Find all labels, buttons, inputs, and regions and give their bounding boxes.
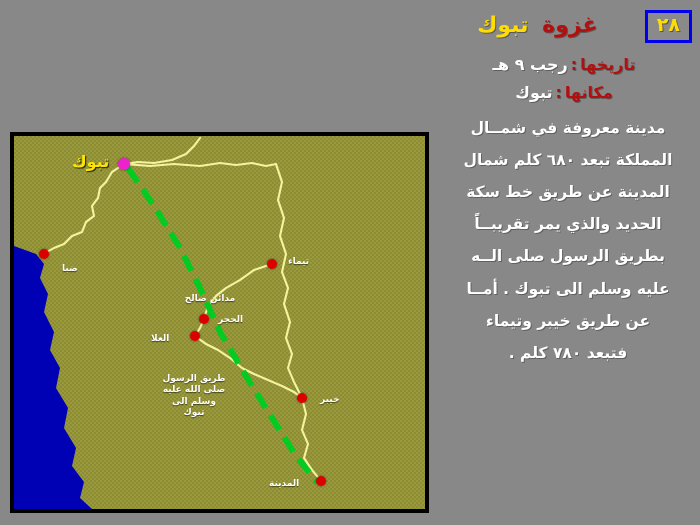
- page-root: تبوكضباتيماءالحجرالعلاخيبرالمدينة مدائن …: [0, 0, 700, 525]
- map-canvas[interactable]: تبوكضباتيماءالحجرالعلاخيبرالمدينة مدائن …: [14, 136, 425, 509]
- description-line: المملكة تبعد ٦٨٠ كلم شمال: [444, 148, 692, 173]
- map-frame: تبوكضباتيماءالحجرالعلاخيبرالمدينة مدائن …: [10, 132, 429, 513]
- title-word-tabuk: تبوك: [477, 13, 528, 38]
- map-capital-dot[interactable]: [118, 158, 130, 170]
- description-line: بطريق الرسول صلى الــه: [444, 244, 692, 269]
- date-row: تاريخها:رجب ٩ هـ: [442, 55, 686, 74]
- description-line: مدينة معروفة في شمــال: [444, 116, 692, 141]
- description-text: مدينة معروفة في شمــالالمملكة تبعد ٦٨٠ ك…: [444, 116, 692, 366]
- description-line: فتبعد ٧٨٠ كلم .: [444, 341, 692, 366]
- date-separator: :: [568, 55, 580, 74]
- map-city-dot[interactable]: [297, 393, 307, 403]
- place-value: تبوك: [515, 83, 552, 102]
- place-label: مكانها: [565, 83, 613, 102]
- map-city-dot[interactable]: [267, 259, 277, 269]
- description-line: المدينة عن طريق خط سكة: [444, 180, 692, 205]
- title-row: ٢٨ غزوة تبوك: [436, 6, 700, 46]
- description-line: عن طريق خيبر وتيماء: [444, 309, 692, 334]
- sea-polygon: [14, 246, 92, 509]
- description-line: عليه وسلم الى تبوك . أمــا: [444, 277, 692, 302]
- date-label: تاريخها: [580, 55, 635, 74]
- place-separator: :: [553, 83, 565, 102]
- description-line: الحديد والذي يمر تقريبــاً: [444, 212, 692, 237]
- place-row: مكانها:تبوك: [442, 83, 686, 102]
- map-city-dot[interactable]: [39, 249, 49, 259]
- map-city-dot[interactable]: [316, 476, 326, 486]
- lesson-number-badge: ٢٨: [645, 10, 692, 43]
- info-panel: ٢٨ غزوة تبوك تاريخها:رجب ٩ هـ مكانها:تبو…: [436, 0, 700, 525]
- map-city-dot[interactable]: [190, 331, 200, 341]
- date-value: رجب ٩ هـ: [493, 55, 568, 74]
- page-title: غزوة تبوك: [440, 14, 635, 38]
- title-word-ghazwa: غزوة: [542, 13, 597, 38]
- map-vector-layer: [14, 136, 425, 509]
- map-city-dot[interactable]: [199, 314, 209, 324]
